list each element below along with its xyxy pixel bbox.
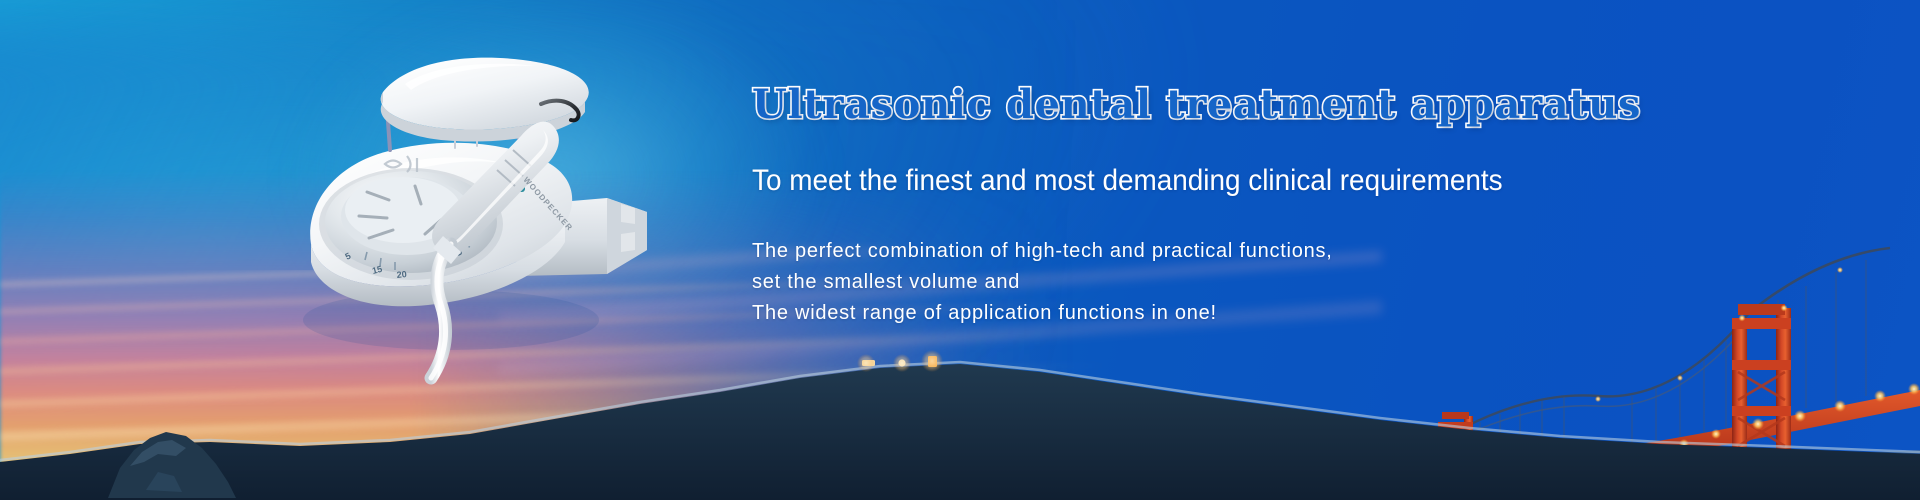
description-line: The widest range of application function… [752, 298, 1582, 329]
page-title: Ultrasonic dental treatment apparatus [752, 84, 1582, 126]
hero-banner: 0 5 15 20 [0, 0, 1920, 500]
description-line: set the smallest volume and [752, 267, 1582, 298]
description-line: The perfect combination of high-tech and… [752, 236, 1582, 267]
ultrasonic-scaler-device: 0 5 15 20 [255, 38, 675, 383]
banner-copy: Ultrasonic dental treatment apparatus To… [752, 84, 1582, 329]
hilltop-building-lights [857, 350, 943, 372]
banner-description: The perfect combination of high-tech and… [752, 236, 1582, 329]
banner-subtitle: To meet the finest and most demanding cl… [752, 164, 1524, 198]
dial-tick-20: 20 [396, 269, 407, 280]
